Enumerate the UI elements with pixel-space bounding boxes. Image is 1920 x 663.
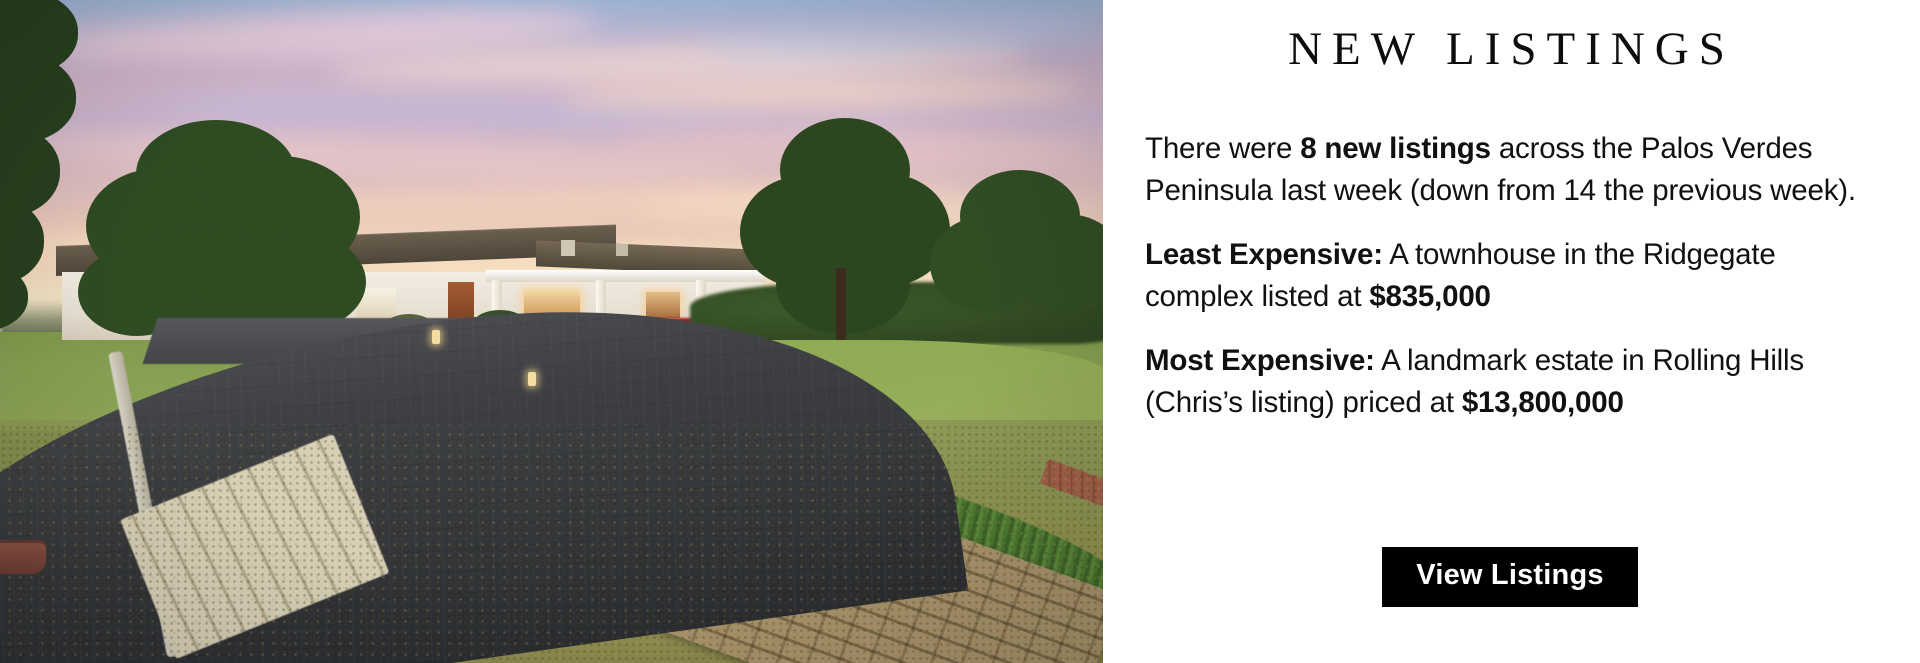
new-listings-promo-card: NEW LISTINGS There were 8 new listings a… [0, 0, 1920, 663]
photo-tree-right-large [740, 118, 940, 328]
photo-terracotta-pot [0, 540, 46, 574]
emphasis-text: 8 new listings [1300, 132, 1491, 165]
view-listings-button[interactable]: View Listings [1382, 547, 1637, 607]
listings-body: There were 8 new listings across the Pal… [1145, 128, 1875, 424]
page-title: NEW LISTINGS [1145, 22, 1878, 76]
paragraph-most-expensive: Most Expensive: A landmark estate in Rol… [1145, 340, 1875, 424]
photo-tree-center-oak [78, 120, 368, 345]
photo-tree-right-small [930, 170, 1103, 340]
emphasis-text: $835,000 [1369, 280, 1490, 313]
photo-grass-texture [0, 424, 1103, 663]
hero-listing-photo [0, 0, 1103, 663]
emphasis-text: Least Expensive: [1145, 238, 1383, 271]
photo-path-light-2 [528, 372, 536, 386]
cta-container: View Listings [1145, 547, 1875, 607]
paragraph-summary: There were 8 new listings across the Pal… [1145, 128, 1875, 212]
listings-text-panel: NEW LISTINGS There were 8 new listings a… [1103, 0, 1920, 663]
emphasis-text: $13,800,000 [1462, 386, 1624, 419]
body-text: There were [1145, 132, 1300, 165]
paragraph-least-expensive: Least Expensive: A townhouse in the Ridg… [1145, 234, 1875, 318]
emphasis-text: Most Expensive: [1145, 344, 1375, 377]
photo-tree-left-edge [0, 0, 108, 320]
photo-path-light-1 [432, 330, 440, 344]
